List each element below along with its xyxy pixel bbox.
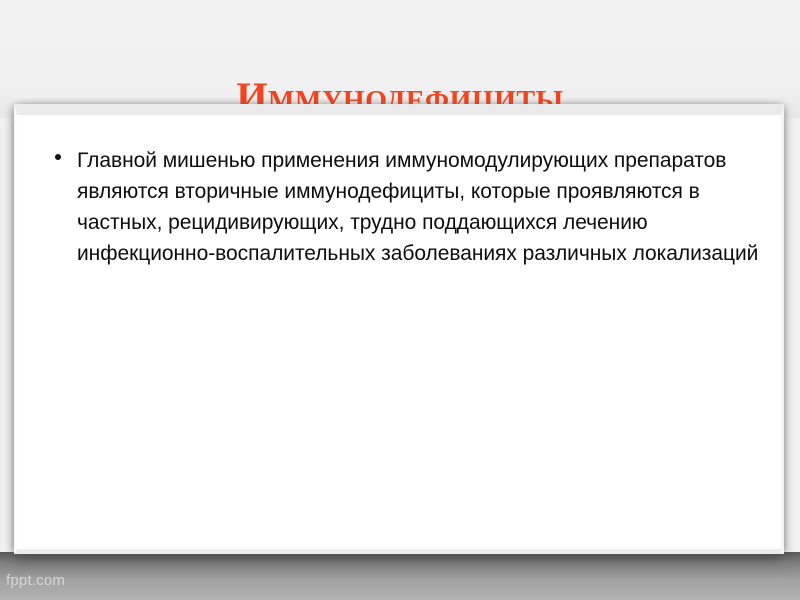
content-card-inner: Главной мишенью применения иммуномодулир… <box>17 115 781 549</box>
slide-background-bottom <box>0 552 800 600</box>
list-item: Главной мишенью применения иммуномодулир… <box>17 145 781 269</box>
bullet-dot-icon <box>55 154 61 160</box>
watermark-fppt: fppt.com <box>6 572 65 590</box>
bullet-item-text: Главной мишенью применения иммуномодулир… <box>77 145 763 269</box>
content-card: Главной мишенью применения иммуномодулир… <box>14 104 784 554</box>
bullet-list: Главной мишенью применения иммуномодулир… <box>17 145 781 269</box>
slide-canvas: Иммунодефициты Главной мишенью применени… <box>0 0 800 600</box>
